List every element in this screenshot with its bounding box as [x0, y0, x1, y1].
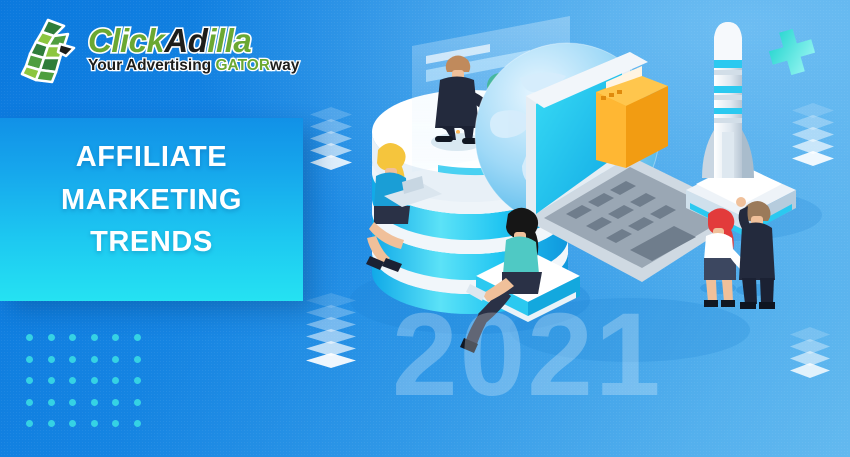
- year-2021: 2021: [392, 296, 663, 414]
- grid-dot: [48, 334, 55, 341]
- title-line-1: AFFILIATE: [0, 136, 303, 179]
- grid-dot: [112, 399, 119, 406]
- diamond-stack-bottom-left: [306, 296, 356, 368]
- grid-dot: [112, 334, 119, 341]
- wordmark-line: ClickAdilla: [88, 24, 298, 57]
- grid-dot: [69, 377, 76, 384]
- grid-dot: [26, 356, 33, 363]
- headline-panel: AFFILIATE MARKETING TRENDS: [0, 118, 303, 301]
- grid-dot: [112, 356, 119, 363]
- wordmark-click: Click: [88, 22, 164, 59]
- grid-dot: [134, 356, 141, 363]
- clickadilla-logo[interactable]: ClickAdilla Your Advertising GATORway: [18, 10, 290, 94]
- diamond-stack-bottom-right: [790, 330, 830, 378]
- wordmark-ad: Ad: [164, 22, 207, 59]
- grid-dot: [26, 377, 33, 384]
- diamond-stack-top-left: [310, 110, 352, 170]
- grid-dot: [69, 334, 76, 341]
- grid-dot: [69, 420, 76, 427]
- logo-tagline: Your Advertising GATORway: [88, 58, 298, 74]
- man-pointing-up: [736, 197, 775, 309]
- tagline-way: way: [270, 57, 299, 74]
- tagline-your-advertising: Your Advertising: [88, 57, 215, 74]
- grid-dot: [91, 334, 98, 341]
- grid-dot: [134, 420, 141, 427]
- grid-dot: [91, 377, 98, 384]
- grid-dot: [26, 399, 33, 406]
- diamond: [310, 155, 352, 170]
- grid-dot: [69, 356, 76, 363]
- grid-dot: [91, 420, 98, 427]
- grid-dot: [134, 399, 141, 406]
- grid-dot: [91, 399, 98, 406]
- dot-grid: [26, 334, 155, 442]
- title-line-3: TRENDS: [0, 221, 303, 264]
- diamond: [790, 363, 830, 378]
- affiliate-marketing-banner: 2021 AFFILIATE MARKETING: [0, 0, 850, 457]
- gator-logo-icon: [18, 14, 90, 86]
- grid-dot: [26, 420, 33, 427]
- title-line-2: MARKETING: [0, 179, 303, 222]
- grid-dot: [112, 420, 119, 427]
- diamond: [792, 151, 834, 166]
- grid-dot: [112, 377, 119, 384]
- tagline-gator: GATOR: [215, 57, 270, 74]
- grid-dot: [48, 420, 55, 427]
- diamond: [306, 353, 356, 368]
- grid-dot: [48, 377, 55, 384]
- grid-dot: [134, 334, 141, 341]
- logo-wordmark: ClickAdilla Your Advertising GATORway: [88, 24, 298, 84]
- page-title: AFFILIATE MARKETING TRENDS: [0, 136, 303, 264]
- grid-dot: [134, 377, 141, 384]
- grid-dot: [26, 334, 33, 341]
- wordmark-illa: illa: [207, 22, 251, 59]
- grid-dot: [69, 399, 76, 406]
- diamond-stack-top-right: [792, 106, 834, 166]
- grid-dot: [91, 356, 98, 363]
- grid-dot: [48, 356, 55, 363]
- grid-dot: [48, 399, 55, 406]
